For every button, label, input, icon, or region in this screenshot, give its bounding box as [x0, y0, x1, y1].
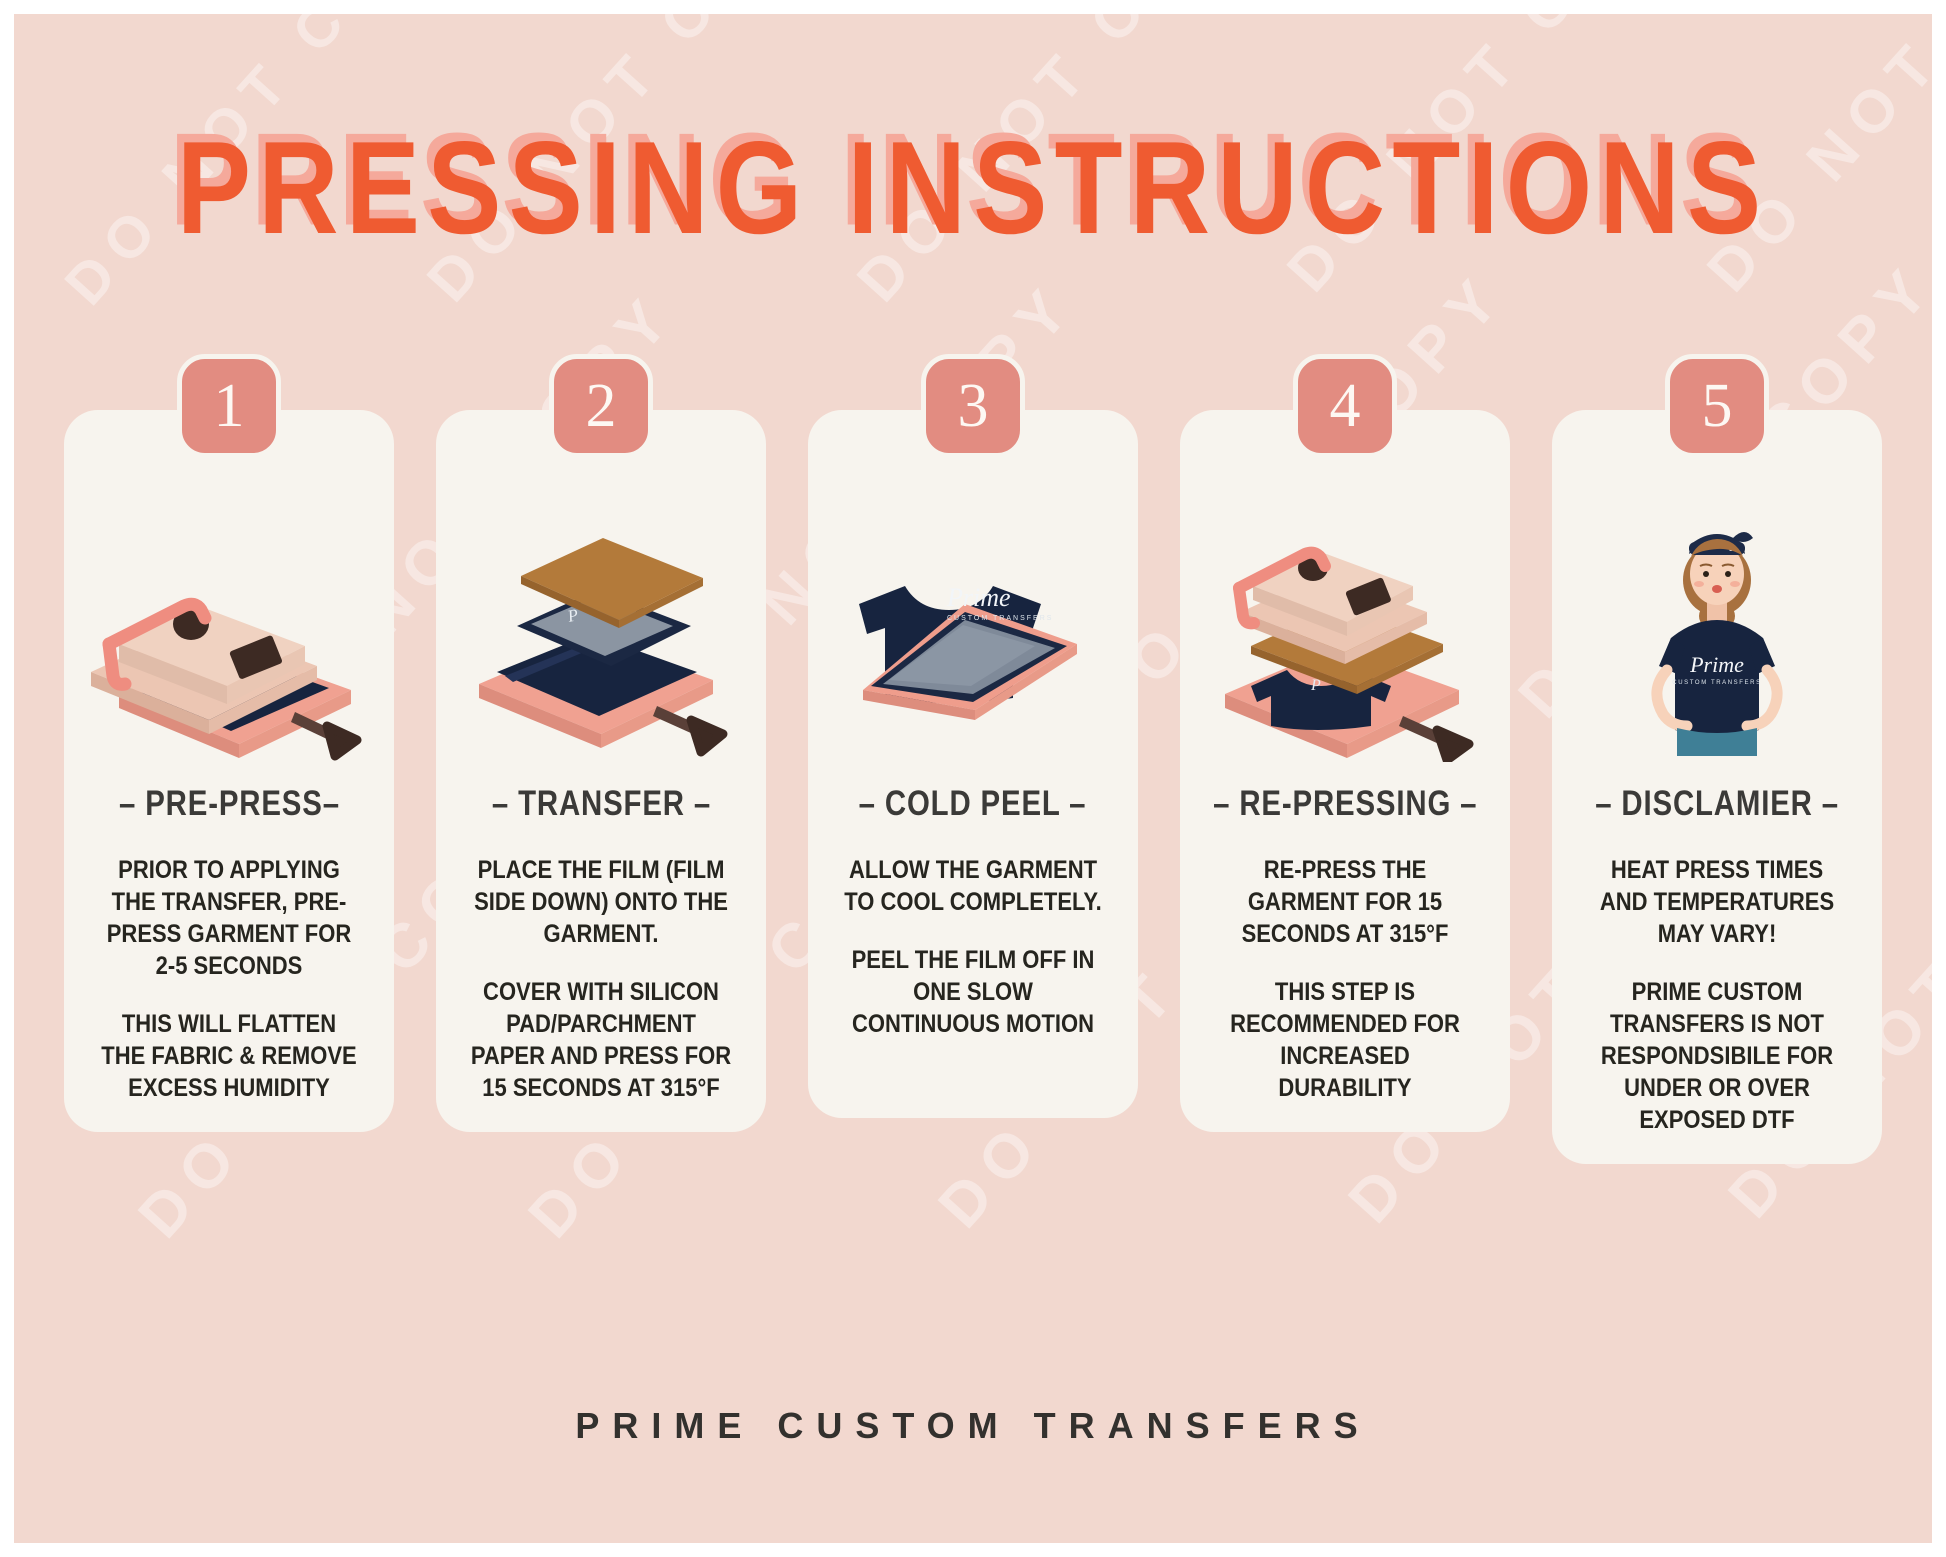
step-heading-5: – DISCLAMIER – [1595, 784, 1839, 824]
step-paragraph-3-2: PEEL THE FILM OFF IN ONE SLOW CONTINUOUS… [842, 944, 1104, 1040]
step-card-4: 4 P [1180, 410, 1510, 1132]
step-heading-1: – PRE-PRESS– [119, 784, 340, 824]
step-paragraph-4-1: RE-PRESS THE GARMENT FOR 15 SECONDS AT 3… [1214, 854, 1476, 950]
illustration-heat-press-open [79, 494, 379, 762]
svg-text:Prime: Prime [1689, 652, 1744, 677]
svg-text:CUSTOM TRANSFERS: CUSTOM TRANSFERS [947, 615, 1053, 622]
step-number-badge-2: 2 [549, 354, 653, 458]
illustration-repress-garment: P [1195, 494, 1495, 762]
step-number-badge-1: 1 [177, 354, 281, 458]
step-card-2: 2 P [436, 410, 766, 1132]
steps-row: 1 [64, 410, 1882, 1164]
pressing-instructions-poster: DO NOT COPY DO NOT COPY DO NOT COPY DO N… [0, 0, 1946, 1557]
step-paragraph-4-2: THIS STEP IS RECOMMENDED FOR INCREASED D… [1214, 976, 1476, 1104]
step-paragraph-2-2: COVER WITH SILICON PAD/PARCHMENT PAPER A… [470, 976, 732, 1104]
step-heading-3: – COLD PEEL – [859, 784, 1087, 824]
step-number-badge-4: 4 [1293, 354, 1397, 458]
illustration-woman-wearing-shirt: Prime CUSTOM TRANSFERS [1567, 494, 1867, 762]
illustration-cold-peel-tshirt: Prime CUSTOM TRANSFERS [823, 494, 1123, 762]
step-paragraph-1-2: THIS WILL FLATTEN THE FABRIC & REMOVE EX… [98, 1008, 360, 1104]
illustration-film-layers: P [451, 494, 751, 762]
footer-brand: PRIME CUSTOM TRANSFERS [14, 1405, 1932, 1447]
step-card-1: 1 [64, 410, 394, 1132]
step-number-badge-5: 5 [1665, 354, 1769, 458]
svg-text:Prime: Prime [946, 583, 1011, 612]
step-card-3: 3 Prime CUSTOM TRANSFERS [808, 410, 1138, 1118]
step-card-5: 5 [1552, 410, 1882, 1164]
step-paragraph-2-1: PLACE THE FILM (FILM SIDE DOWN) ONTO THE… [470, 854, 732, 950]
step-number-badge-3: 3 [921, 354, 1025, 458]
svg-text:CUSTOM TRANSFERS: CUSTOM TRANSFERS [1672, 680, 1761, 686]
step-paragraph-5-2: PRIME CUSTOM TRANSFERS IS NOT RESPONDSIB… [1586, 976, 1848, 1136]
step-paragraph-5-1: HEAT PRESS TIMES AND TEMPERATURES MAY VA… [1586, 854, 1848, 950]
step-paragraph-1-1: PRIOR TO APPLYING THE TRANSFER, PRE-PRES… [98, 854, 360, 982]
step-heading-2: – TRANSFER – [491, 784, 710, 824]
page-title: PRESSING INSTRUCTIONS [177, 122, 1769, 254]
page-title-container: PRESSING INSTRUCTIONS [14, 122, 1932, 230]
step-paragraph-3-1: ALLOW THE GARMENT TO COOL COMPLETELY. [842, 854, 1104, 918]
step-heading-4: – RE-PRESSING – [1213, 784, 1477, 824]
